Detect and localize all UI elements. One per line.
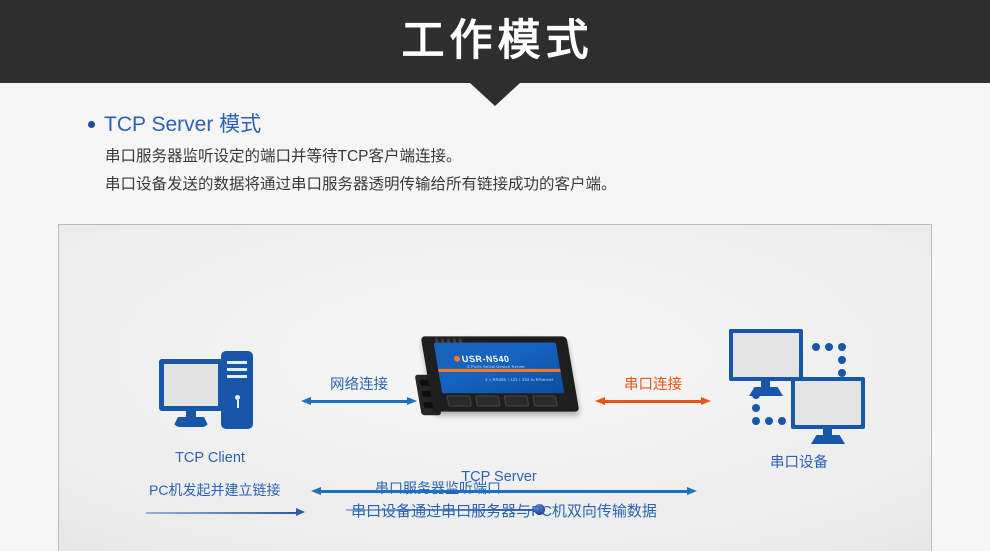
monitor-neck-part [761,381,770,388]
bottom-flow-caption: 串口设备通过串口服务器与PC机双向传输数据 [249,500,759,521]
arrow-shaft [604,400,702,403]
device-spec-label: 4 x RS485 / 422 / 232 to Ethernet [485,377,554,382]
decorative-dot-icon [752,417,760,425]
serial-link-label: 串口连接 [595,373,711,394]
device-accent-stripe [438,369,561,372]
pc-tower-slot [227,368,247,371]
device-model-label: USR-N540 [461,354,510,364]
pc-tower-slot [227,361,247,364]
page-root: 工作模式 TCP Server 模式 串口服务器监听设定的端口并等待TCP客户端… [0,0,990,551]
client-label: TCP Client [115,450,305,466]
device-body-part: USR-N540 4 Ports Serial Device Server 4 … [421,336,580,411]
arrow-shaft [310,400,408,403]
flow-label-client-initiates: PC机发起并建立链接 [149,483,280,497]
section-heading-label: TCP Server 模式 [104,112,261,137]
page-header: 工作模式 [0,0,990,83]
bottom-flow-arrow-icon [311,487,697,495]
bullet-dot-icon [88,121,95,128]
serial-devices-label: 串口设备 [699,451,899,472]
monitor-screen-part [791,377,865,429]
monitor-icon [791,377,865,429]
pc-tower-part [221,351,253,429]
arrow-tip-right [407,397,417,405]
bottom-flow-title: TCP Server [369,469,629,485]
device-serial-port-row [447,395,572,409]
decorative-dot-icon [838,369,846,377]
arrow-tip-right [687,487,697,495]
serial-port [504,395,530,406]
description-line-2: 串口设备发送的数据将通过串口服务器透明传输给所有链接成功的客户端。 [105,176,617,195]
pc-power-button-stem [237,400,239,408]
two-monitors-icon [729,329,865,445]
decorative-dot-icon [778,417,786,425]
desktop-pc-icon [159,345,255,441]
decorative-dot-icon [812,343,820,351]
serial-server-device-icon: USR-N540 4 Ports Serial Device Server 4 … [418,331,582,431]
serial-port [447,395,473,406]
decorative-dot-icon [765,417,773,425]
arrow-tip-right [701,397,711,405]
arrow-shaft [320,490,688,493]
section-heading: TCP Server 模式 [88,112,261,137]
monitor-icon [729,329,803,381]
pc-monitor-part [159,359,223,411]
description-line-1: 串口服务器监听设定的端口并等待TCP客户端连接。 [105,148,462,167]
device-faceplate-part: USR-N540 4 Ports Serial Device Server 4 … [434,343,565,394]
header-pointer-triangle-icon [470,83,520,106]
page-title: 工作模式 [397,20,594,63]
network-link-label: 网络连接 [301,373,417,394]
serial-port [532,395,558,406]
network-link-arrow-icon [301,397,417,405]
decorative-dot-icon [752,404,760,412]
decorative-dot-icon [825,343,833,351]
monitor-screen-part [729,329,803,381]
serial-port [475,395,501,406]
monitor-base-part [811,435,845,444]
device-logo-dot-icon [454,356,461,362]
serial-link-arrow-icon [595,397,711,405]
decorative-dot-icon [838,356,846,364]
pc-monitor-base-part [173,417,209,427]
decorative-dot-icon [752,391,760,399]
diagram-panel: PC机发起并建立链接 串口服务器监听端口 TCP Client 网络连接 [58,224,932,551]
decorative-dot-icon [838,343,846,351]
pc-tower-slot [227,375,247,378]
monitor-neck-part [823,429,832,436]
